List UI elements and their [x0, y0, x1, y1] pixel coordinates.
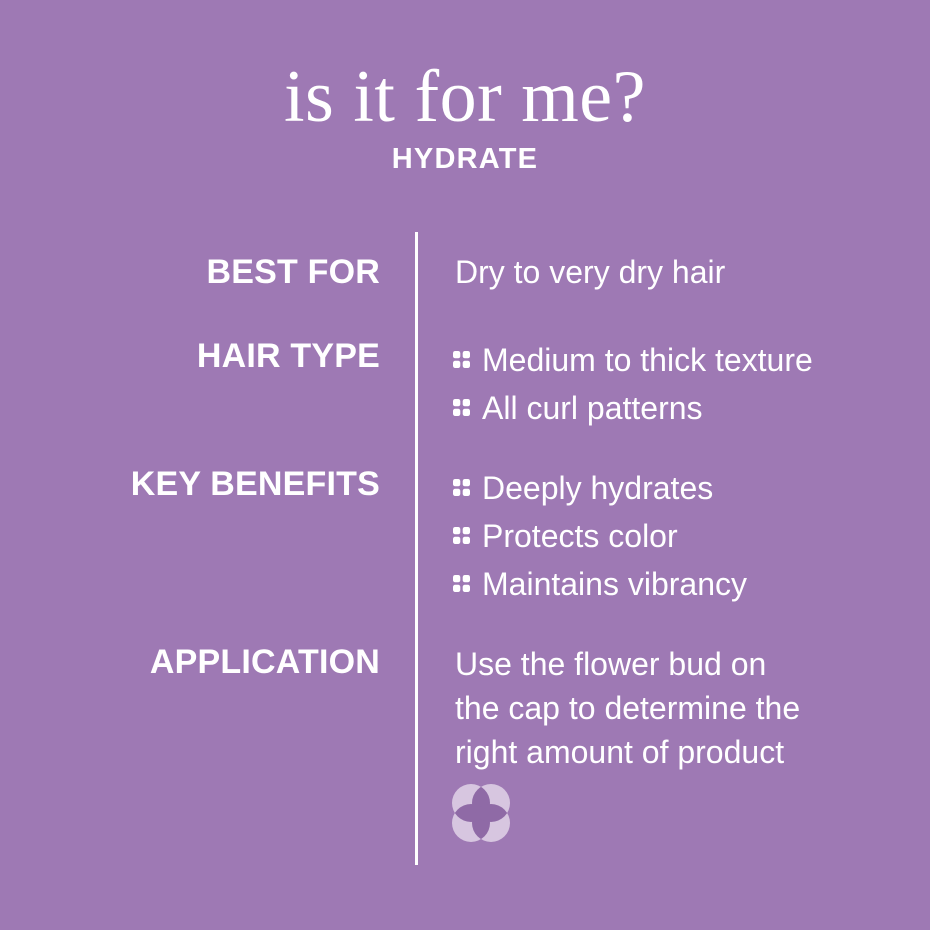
spec-line: the cap to determine the [453, 686, 903, 730]
list-item: Maintains vibrancy [453, 560, 903, 608]
flower-bud-bullet-icon [453, 527, 470, 544]
list-item-label: All curl patterns [482, 384, 703, 432]
flower-bud-icon [450, 782, 512, 844]
spec-label-hair-type: HAIR TYPE [40, 336, 380, 376]
spec-value-best-for: Dry to very dry hair [453, 252, 903, 292]
spec-line: right amount of product [453, 730, 903, 774]
flower-bud-bullet-icon [453, 479, 470, 496]
flower-bud-bullet-icon [453, 575, 470, 592]
info-card: is it for me? HYDRATE BEST FOR Dry to ve… [0, 0, 930, 930]
list-item-label: Deeply hydrates [482, 464, 713, 512]
spec-line: Dry to very dry hair [453, 252, 903, 292]
list-item-label: Maintains vibrancy [482, 560, 747, 608]
spec-value-application: Use the flower bud on the cap to determi… [453, 642, 903, 774]
list-item: Deeply hydrates [453, 464, 903, 512]
spec-line: Use the flower bud on [453, 642, 903, 686]
list-item-label: Protects color [482, 512, 678, 560]
list-item: Medium to thick texture [453, 336, 903, 384]
spec-value-hair-type: Medium to thick texture All curl pattern… [453, 336, 903, 432]
spec-label-best-for: BEST FOR [40, 252, 380, 292]
spec-label-application: APPLICATION [40, 642, 380, 682]
list-item: All curl patterns [453, 384, 903, 432]
flower-bud-bullet-icon [453, 399, 470, 416]
list-item-label: Medium to thick texture [482, 336, 813, 384]
spec-label-key-benefits: KEY BENEFITS [40, 464, 380, 504]
list-item: Protects color [453, 512, 903, 560]
flower-bud-bullet-icon [453, 351, 470, 368]
spec-value-key-benefits: Deeply hydrates Protects color [453, 464, 903, 608]
